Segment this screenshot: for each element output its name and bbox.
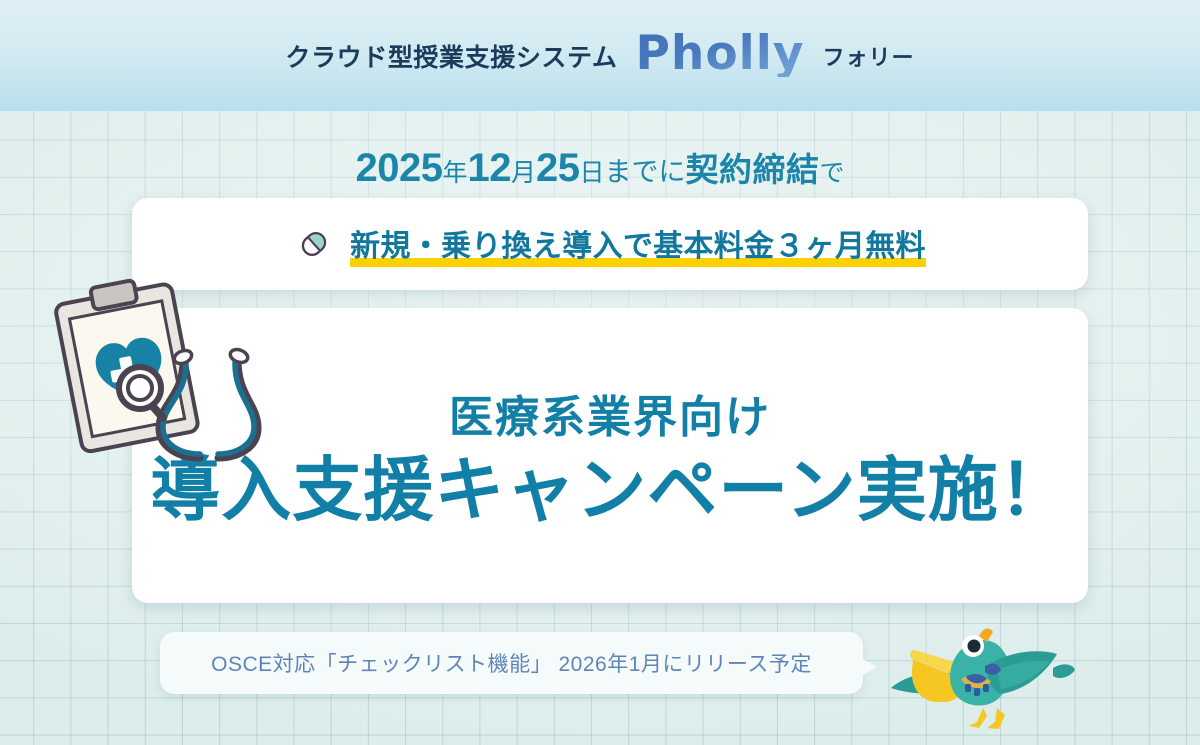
release-notice-banner: OSCE対応「チェックリスト機能」 2026年1月にリリース予定: [160, 632, 863, 694]
page-header: クラウド型授業支援システム Pholly フォリー: [0, 0, 1200, 111]
pelican-mascot-icon: [885, 612, 1080, 745]
deadline-tail: で: [820, 159, 845, 187]
deadline-line: 2025年12月25日までに契約締結で: [0, 143, 1200, 191]
release-notice-text: OSCE対応「チェックリスト機能」 2026年1月にリリース予定: [211, 648, 812, 678]
clipboard-stethoscope-icon: [52, 276, 272, 468]
capsule-pill-icon: [294, 224, 334, 264]
deadline-year-unit: 年: [442, 159, 467, 187]
deadline-emphasis: 契約締結: [686, 151, 820, 188]
offer-text: 新規・乗り換え導入で基本料金３ヶ月無料: [350, 221, 926, 267]
pholly-logo-reading: フォリー: [823, 40, 915, 72]
deadline-day: 25: [536, 146, 580, 190]
deadline-day-unit: 日: [579, 159, 604, 187]
main-card: 医療系業界向け 導入支援キャンペーン実施！: [132, 308, 1088, 603]
main-headline: 導入支援キャンペーン実施！: [150, 451, 1070, 529]
deadline-month-unit: 月: [511, 159, 536, 187]
pholly-logo: Pholly: [635, 30, 804, 77]
offer-card: 新規・乗り換え導入で基本料金３ヶ月無料: [132, 198, 1088, 290]
campaign-banner: クラウド型授業支援システム Pholly フォリー 2025年12月25日までに…: [0, 0, 1200, 745]
deadline-year: 2025: [355, 146, 442, 190]
deadline-until: までに: [605, 157, 686, 187]
header-tagline: クラウド型授業支援システム: [285, 38, 617, 74]
deadline-month: 12: [467, 146, 511, 190]
main-kicker: 医療系業界向け: [449, 381, 771, 445]
